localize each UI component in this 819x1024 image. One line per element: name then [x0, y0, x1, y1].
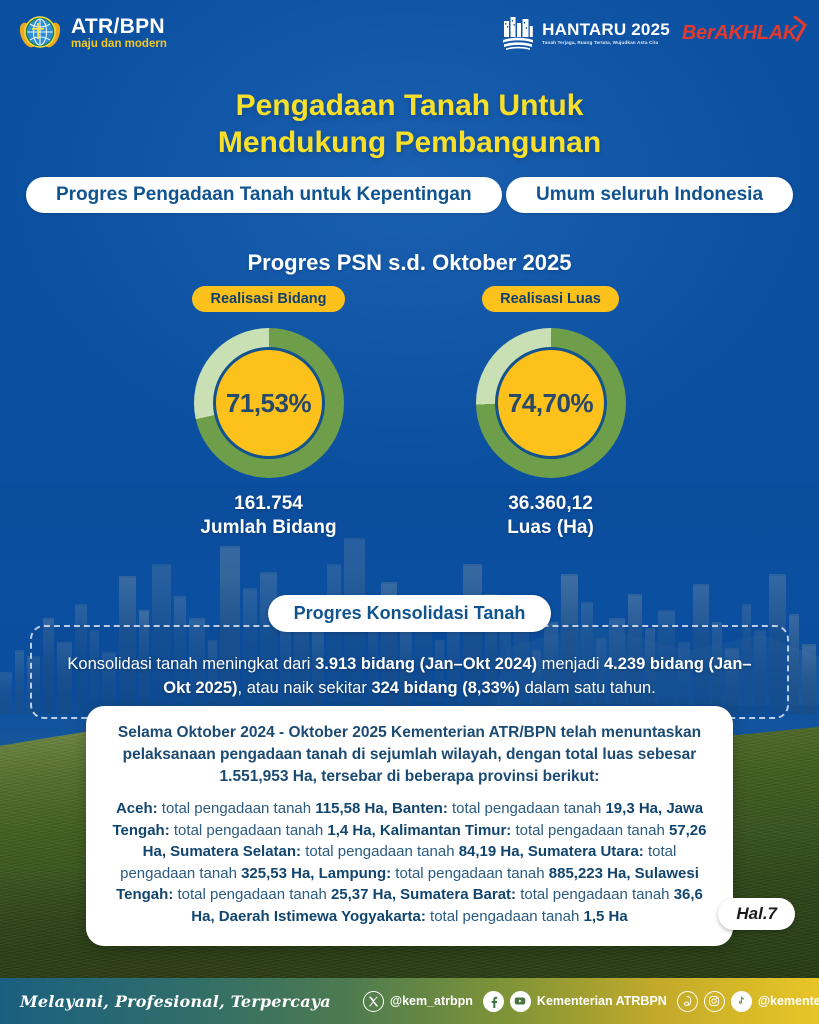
globe-logo-icon	[18, 11, 62, 55]
brand-title: ATR/BPN	[71, 16, 167, 37]
metric-caption: Luas (Ha)	[451, 516, 651, 540]
poster-footer: Melayani, Profesional, Terpercaya @kem_a…	[0, 978, 819, 1024]
donut-center: 74,70%	[495, 347, 607, 459]
berakhlak-label: BerAKHLAK	[682, 22, 797, 44]
footer-x-group[interactable]: @kem_atrbpn	[363, 991, 473, 1012]
metric-badge: Realisasi Luas	[482, 286, 619, 312]
atrbpn-brand: ATR/BPN maju dan modern	[18, 11, 167, 55]
info-province-list: Aceh: total pengadaan tanah 115,58 Ha, B…	[108, 798, 711, 928]
donut-percent-label: 74,70%	[508, 388, 593, 419]
donut-chart-luas: 74,70%	[476, 328, 626, 478]
metrics-row: Realisasi Bidang 71,53% 161.754 Jumlah B…	[0, 286, 819, 540]
footer-tagline: Melayani, Profesional, Terpercaya	[20, 992, 331, 1011]
page-title-line2: Mendukung Pembangunan	[0, 125, 819, 162]
hantaru-tagline: Tanah Terjaga, Ruang Tertata, Wujudkan A…	[542, 41, 670, 46]
footer-meta-group[interactable]: @kementerian.atrbpn	[677, 991, 819, 1012]
footer-meta-handle[interactable]: @kementerian.atrbpn	[758, 994, 819, 1008]
tiktok-icon[interactable]	[731, 991, 752, 1012]
hantaru-logo: HANTARU 2025 Tanah Terjaga, Ruang Tertat…	[501, 15, 670, 51]
metric-realisasi-bidang: Realisasi Bidang 71,53% 161.754 Jumlah B…	[169, 286, 369, 540]
psn-section-title: Progres PSN s.d. Oktober 2025	[0, 250, 819, 276]
subtitle-pill-2: Umum seluruh Indonesia	[506, 177, 793, 213]
footer-x-handle[interactable]: @kem_atrbpn	[390, 994, 473, 1008]
metric-badge: Realisasi Bidang	[192, 286, 344, 312]
threads-icon[interactable]	[677, 991, 698, 1012]
metric-value: 36.360,12	[451, 492, 651, 516]
metric-caption: Jumlah Bidang	[169, 516, 369, 540]
donut-center: 71,53%	[213, 347, 325, 459]
youtube-icon[interactable]	[510, 991, 531, 1012]
infographic-poster: ATR/BPN maju dan modern	[0, 0, 819, 1024]
info-headline: Selama Oktober 2024 - Oktober 2025 Kemen…	[108, 722, 711, 788]
provinces-info-card: Selama Oktober 2024 - Oktober 2025 Kemen…	[86, 706, 733, 946]
instagram-icon[interactable]	[704, 991, 725, 1012]
hantaru-title: HANTARU 2025	[542, 21, 670, 38]
page-title-line1: Pengadaan Tanah Untuk	[0, 88, 819, 125]
konsolidasi-pill: Progres Konsolidasi Tanah	[268, 595, 552, 632]
facebook-icon[interactable]	[483, 991, 504, 1012]
poster-header: ATR/BPN maju dan modern	[0, 0, 819, 66]
konsolidasi-text: Konsolidasi tanah meningkat dari 3.913 b…	[58, 653, 761, 701]
metric-realisasi-luas: Realisasi Luas 74,70% 36.360,12 Luas (Ha…	[451, 286, 651, 540]
konsolidasi-pill-wrap: Progres Konsolidasi Tanah	[0, 595, 819, 632]
page-title: Pengadaan Tanah Untuk Mendukung Pembangu…	[0, 88, 819, 161]
page-number-badge: Hal.7	[718, 898, 795, 930]
campaign-logos: HANTARU 2025 Tanah Terjaga, Ruang Tertat…	[501, 15, 805, 51]
metric-value: 161.754	[169, 492, 369, 516]
footer-fb-yt-group[interactable]: Kementerian ATRBPN	[483, 991, 667, 1012]
footer-fb-yt-label[interactable]: Kementerian ATRBPN	[537, 994, 667, 1008]
subtitle-pills: Progres Pengadaan Tanah untuk Kepentinga…	[0, 170, 819, 213]
subtitle-pill-1: Progres Pengadaan Tanah untuk Kepentinga…	[26, 177, 502, 213]
x-twitter-icon[interactable]	[363, 991, 384, 1012]
swoosh-icon	[793, 16, 807, 42]
brand-subtitle: maju dan modern	[71, 39, 167, 51]
donut-chart-bidang: 71,53%	[194, 328, 344, 478]
berakhlak-logo: BerAKHLAK	[682, 22, 805, 45]
hantaru-building-icon	[501, 15, 535, 51]
donut-percent-label: 71,53%	[226, 388, 311, 419]
konsolidasi-box: Konsolidasi tanah meningkat dari 3.913 b…	[30, 625, 789, 719]
